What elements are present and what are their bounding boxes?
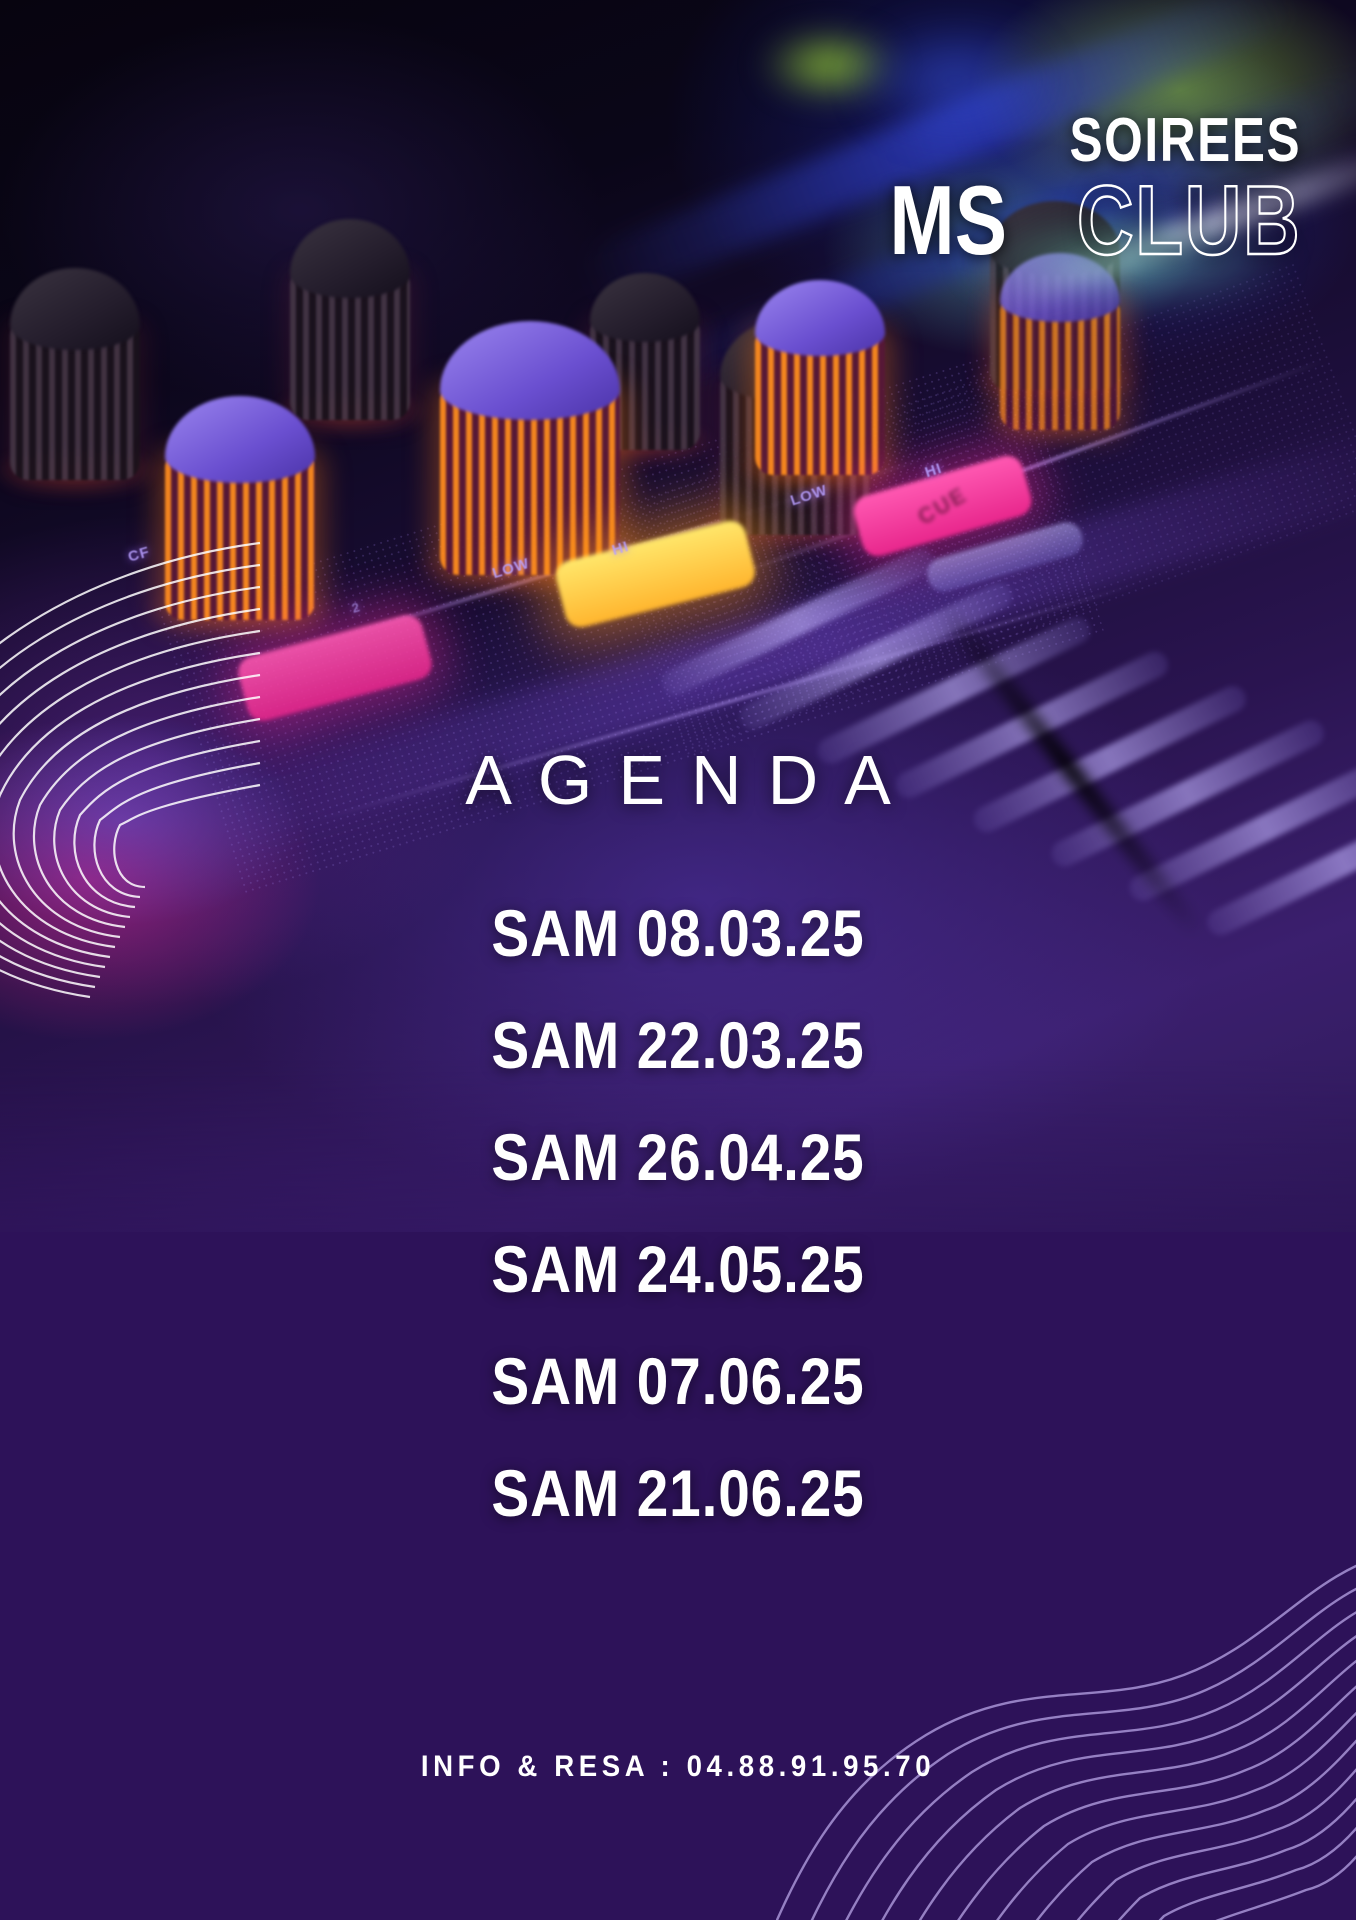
logo-soirees: SOIREES — [948, 112, 1301, 171]
logo-second-line: MS CLUB — [860, 175, 1301, 265]
mixer-knob-lit — [440, 360, 620, 575]
logo-club-outline: CLUB — [1077, 175, 1301, 265]
list-item-date: SAM 08.03.25 — [95, 900, 1261, 966]
mixer-knob — [290, 250, 410, 420]
footer-info-reservation: INFO & RESA : 04.88.91.95.70 — [54, 1752, 1302, 1782]
list-item-date: SAM 07.06.25 — [95, 1348, 1261, 1414]
poster-canvas: CUE LOW HI LOW HI CF 2 — [0, 0, 1356, 1920]
logo-ms: MS — [889, 175, 1007, 265]
page-title-agenda: AGENDA — [0, 745, 1356, 815]
list-item-date: SAM 26.04.25 — [95, 1124, 1261, 1190]
mixer-knob-lit — [755, 310, 885, 475]
list-item-date: SAM 21.06.25 — [95, 1460, 1261, 1526]
logo-block: SOIREES MS CLUB — [860, 112, 1301, 265]
mixer-knob — [10, 300, 140, 480]
list-item-date: SAM 22.03.25 — [95, 1012, 1261, 1078]
mixer-knob-lit — [165, 430, 315, 620]
date-list: SAM 08.03.25 SAM 22.03.25 SAM 26.04.25 S… — [0, 900, 1356, 1572]
list-item-date: SAM 24.05.25 — [95, 1236, 1261, 1302]
